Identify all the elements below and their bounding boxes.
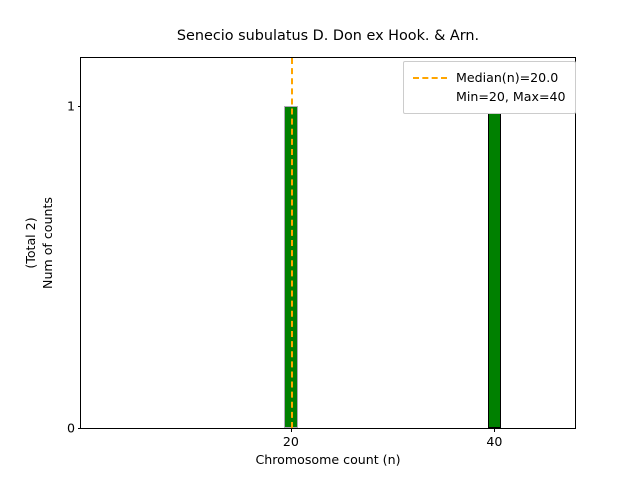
bar-n-40[interactable] [488,106,501,428]
ytick-label-1: 1 [67,99,75,114]
legend: Median(n)=20.0 Min=20, Max=40 [403,61,576,114]
legend-label-median: Median(n)=20.0 [456,70,558,85]
legend-entry-median: Median(n)=20.0 [413,68,566,87]
chart-title: Senecio subulatus D. Don ex Hook. & Arn. [80,28,576,44]
chart-figure: Senecio subulatus D. Don ex Hook. & Arn.… [0,0,640,480]
ytick-label-0: 0 [67,421,75,436]
xtick-label-20: 20 [283,434,299,449]
ytick-mark-0 [78,428,82,429]
xtick-label-40: 40 [486,434,502,449]
legend-label-minmax: Min=20, Max=40 [456,89,566,104]
median-line [291,58,293,428]
legend-entry-minmax: Min=20, Max=40 [413,87,566,106]
legend-dashed-line-icon [413,77,447,79]
y-axis-label: Num of counts (Total 2) [22,57,56,429]
y-axis-label-line2: (Total 2) [22,217,39,268]
y-axis-label-line1: Num of counts [39,197,56,289]
ytick-mark-1 [78,106,82,107]
x-axis-label: Chromosome count (n) [80,452,576,467]
xtick-mark-20 [291,428,292,432]
xtick-mark-40 [494,428,495,432]
